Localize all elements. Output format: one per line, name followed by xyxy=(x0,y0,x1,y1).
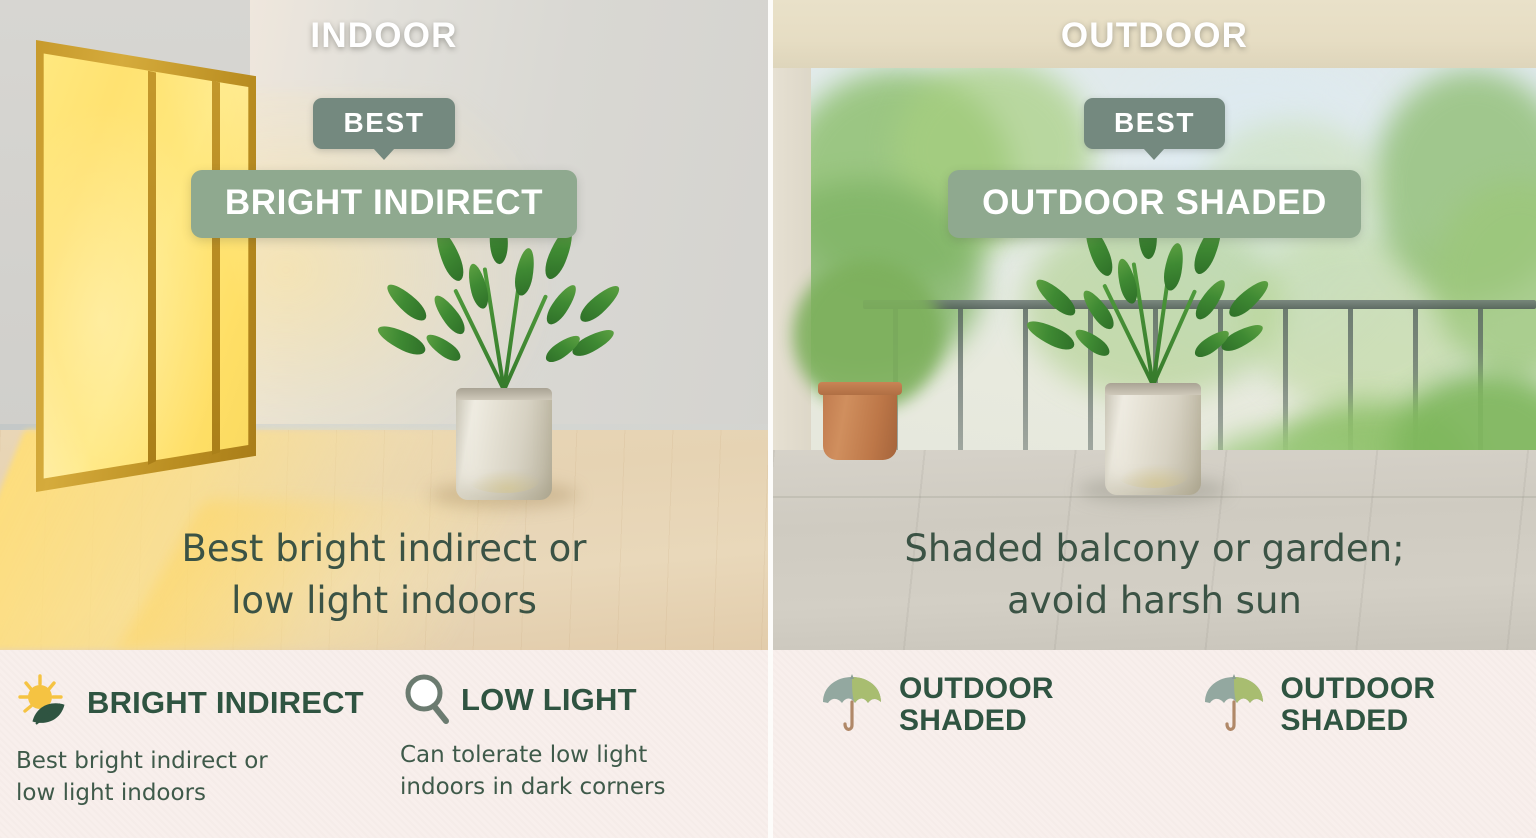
caption-outdoor: Shaded balcony or garden; avoid harsh su… xyxy=(773,523,1536,628)
potted-plant-indoor xyxy=(424,250,584,500)
badge-best-outdoor: BEST xyxy=(1084,98,1225,149)
legend-desc-line1: Best bright indirect or xyxy=(16,746,316,778)
legend-title-outdoor-shaded-1: OUTDOOR SHADED xyxy=(899,673,1054,738)
legend-desc-low-light: Can tolerate low light indoors in dark c… xyxy=(400,740,700,803)
legend-group-outdoor: OUTDOOR SHADED xyxy=(768,650,1536,838)
railing-baluster xyxy=(958,309,963,470)
terracotta-pot-rim xyxy=(818,382,902,395)
panel-title-outdoor: OUTDOOR xyxy=(773,16,1536,56)
sun-leaf-icon xyxy=(16,672,78,734)
plant-pot xyxy=(456,388,552,500)
caption-indoor-line2: low light indoors xyxy=(0,575,768,628)
legend-desc-line1: Can tolerate low light xyxy=(400,740,700,772)
caption-outdoor-line1: Shaded balcony or garden; xyxy=(773,523,1536,576)
badge-light-requirement-indoor: BRIGHT INDIRECT xyxy=(191,170,577,238)
panel-indoor: INDOOR BEST BRIGHT INDIRECT Best bright … xyxy=(0,0,768,650)
lighting-comparison-infographic: INDOOR BEST BRIGHT INDIRECT Best bright … xyxy=(0,0,1536,838)
legend-desc-line2: low light indoors xyxy=(16,778,316,810)
legend-item-outdoor-shaded-1: OUTDOOR SHADED xyxy=(773,650,1155,838)
caption-outdoor-line2: avoid harsh sun xyxy=(773,575,1536,628)
legend-title-outdoor-shaded-2: OUTDOOR SHADED xyxy=(1281,673,1436,738)
outdoor-badge-stack: BEST OUTDOOR SHADED xyxy=(773,98,1536,238)
legend-title-line1: OUTDOOR xyxy=(899,673,1054,705)
caption-indoor-line1: Best bright indirect or xyxy=(0,523,768,576)
legend-item-outdoor-shaded-2: OUTDOOR SHADED xyxy=(1155,650,1536,838)
legend-item-bright-indirect: BRIGHT INDIRECT Best bright indirect or … xyxy=(0,650,384,838)
legend-title-low-light: LOW LIGHT xyxy=(461,683,637,716)
magnifier-icon xyxy=(400,672,452,728)
legend-head: BRIGHT INDIRECT xyxy=(16,672,370,734)
legend-group-indoor: BRIGHT INDIRECT Best bright indirect or … xyxy=(0,650,768,838)
legend-title-line2: SHADED xyxy=(1281,705,1436,737)
legend-desc-bright-indirect: Best bright indirect or low light indoor… xyxy=(16,746,316,809)
legend-head: LOW LIGHT xyxy=(400,672,754,728)
plant-foliage xyxy=(424,250,584,390)
umbrella-icon xyxy=(1201,672,1267,738)
scene-panels: INDOOR BEST BRIGHT INDIRECT Best bright … xyxy=(0,0,1536,650)
indoor-badge-stack: BEST BRIGHT INDIRECT xyxy=(0,98,768,238)
umbrella-icon xyxy=(819,672,885,738)
railing-baluster xyxy=(1023,309,1028,470)
legend-head: OUTDOOR SHADED xyxy=(819,672,1141,738)
pot-rim xyxy=(456,388,552,400)
plant-foliage xyxy=(1073,245,1233,385)
legend-title-line2: SHADED xyxy=(899,705,1054,737)
panel-outdoor: OUTDOOR BEST OUTDOOR SHADED Shaded balco… xyxy=(768,0,1536,650)
legend-title-bright-indirect: BRIGHT INDIRECT xyxy=(87,686,364,719)
potted-plant-terracotta xyxy=(803,270,913,460)
terracotta-pot xyxy=(823,382,897,460)
badge-light-requirement-outdoor: OUTDOOR SHADED xyxy=(948,170,1361,238)
caption-indoor: Best bright indirect or low light indoor… xyxy=(0,523,768,628)
legend-footer: BRIGHT INDIRECT Best bright indirect or … xyxy=(0,650,1536,838)
legend-head: OUTDOOR SHADED xyxy=(1201,672,1523,738)
plant-pot xyxy=(1105,383,1201,495)
legend-item-low-light: LOW LIGHT Can tolerate low light indoors… xyxy=(384,650,768,838)
legend-title-line1: OUTDOOR xyxy=(1281,673,1436,705)
badge-best-indoor: BEST xyxy=(313,98,454,149)
legend-desc-line2: indoors in dark corners xyxy=(400,772,700,804)
pot-rim xyxy=(1105,383,1201,395)
potted-plant-outdoor xyxy=(1073,245,1233,495)
panel-title-indoor: INDOOR xyxy=(0,16,768,56)
